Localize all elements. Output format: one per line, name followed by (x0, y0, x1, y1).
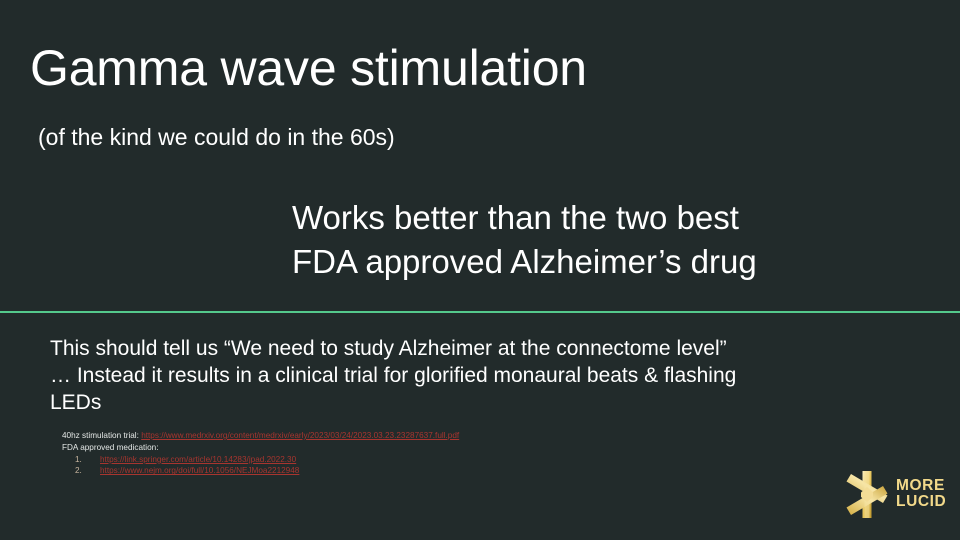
headline-line-1: Works better than the two best (292, 196, 932, 240)
page-title: Gamma wave stimulation (30, 38, 587, 98)
body-line-2: … Instead it results in a clinical trial… (50, 362, 930, 389)
logo-text-line-2: LUCID (896, 494, 946, 511)
body-text-block: This should tell us “We need to study Al… (50, 335, 930, 416)
footnote-link-1[interactable]: https://link.springer.com/article/10.142… (100, 455, 296, 464)
body-line-1: This should tell us “We need to study Al… (50, 335, 930, 362)
footnote-trial-line: 40hz stimulation trial: https://www.medr… (62, 430, 459, 442)
body-line-3: LEDs (50, 389, 930, 416)
six-pointed-asterisk-star-icon (845, 471, 889, 518)
footnote-item-number-2: 2. (62, 465, 100, 477)
list-item: 2.https://www.nejm.org/doi/full/10.1056/… (62, 465, 459, 477)
slide-canvas: Gamma wave stimulation (of the kind we c… (0, 0, 960, 540)
logo-text-line-1: MORE (896, 478, 946, 495)
footnote-medication-label: FDA approved medication: (62, 442, 459, 454)
more-lucid-logo: MORE LUCID (845, 468, 953, 520)
footnote-item-number-1: 1. (62, 454, 100, 466)
footnote-trial-label: 40hz stimulation trial: (62, 431, 139, 440)
headline-block: Works better than the two best FDA appro… (292, 196, 932, 284)
logo-wordmark: MORE LUCID (896, 478, 946, 511)
footnote-link-2[interactable]: https://www.nejm.org/doi/full/10.1056/NE… (100, 466, 299, 475)
footnote-list: 1.https://link.springer.com/article/10.1… (62, 454, 459, 478)
footnote-trial-link[interactable]: https://www.medrxiv.org/content/medrxiv/… (141, 431, 459, 440)
footnotes-block: 40hz stimulation trial: https://www.medr… (62, 430, 459, 477)
page-subtitle: (of the kind we could do in the 60s) (38, 121, 395, 153)
list-item: 1.https://link.springer.com/article/10.1… (62, 454, 459, 466)
section-divider (0, 311, 960, 313)
headline-line-2: FDA approved Alzheimer’s drug (292, 240, 932, 284)
